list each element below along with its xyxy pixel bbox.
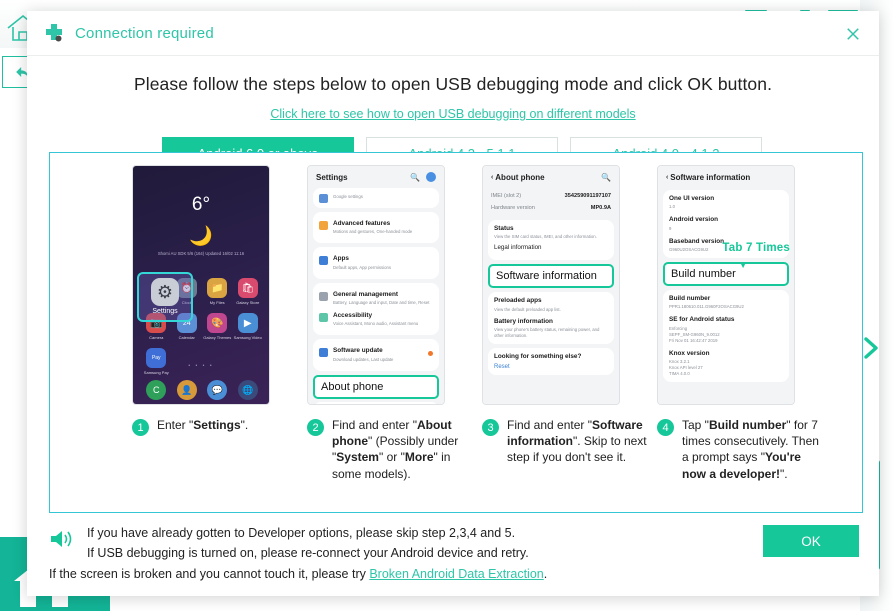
- home-temperature: 6°: [133, 194, 269, 216]
- settings-item-apps[interactable]: Apps Default apps, App permissions: [313, 247, 439, 278]
- tap-seven-times-hint: Tab 7 Times: [722, 242, 790, 254]
- search-icon[interactable]: 🔍: [601, 173, 611, 182]
- usb-plug-icon: [43, 22, 65, 44]
- speaker-icon: [49, 527, 75, 551]
- moon-icon: 🌙: [189, 224, 213, 248]
- settings-item-general-management[interactable]: General management Battery, Language and…: [313, 283, 439, 336]
- app-my-files[interactable]: 📁My Files: [202, 278, 233, 305]
- phone-screenshot-about: ‹ About phone 🔍 IMEI (slot 2)35425909119…: [482, 165, 620, 405]
- chevron-right-icon[interactable]: [856, 333, 886, 363]
- step-4-caption: 4 Tap "Build number" for 7 times consecu…: [657, 417, 825, 482]
- settings-partial-row[interactable]: Google settings: [313, 188, 439, 208]
- step-number-1: 1: [132, 419, 149, 436]
- about-item-legal[interactable]: Legal information: [494, 240, 608, 255]
- footer-line-3-suffix: .: [544, 567, 547, 581]
- step-3-text: Find and enter "Software information". S…: [507, 417, 650, 466]
- step-1: 6° 🌙 Shomi AU SDK 5/6 (164) Updated 16/0…: [132, 165, 307, 482]
- settings-item-advanced-features[interactable]: Advanced features Motions and gestures, …: [313, 212, 439, 243]
- software-header: ‹ Software information: [658, 166, 794, 188]
- step-3: ‹ About phone 🔍 IMEI (slot 2)35425909119…: [482, 165, 657, 482]
- footer-line-1: If you have already gotten to Developer …: [87, 523, 529, 543]
- build-number-highlight[interactable]: Build number: [663, 262, 789, 286]
- step-4-text: Tap "Build number" for 7 times consecuti…: [682, 417, 825, 482]
- software-header-title: Software information: [670, 173, 750, 182]
- home-dock: C 👤 💬 🌐: [141, 380, 263, 400]
- about-header: ‹ About phone 🔍: [483, 166, 619, 188]
- about-item-preloaded-apps[interactable]: Preloaded apps View the default preloade…: [488, 292, 614, 344]
- app-galaxy-themes[interactable]: 🎨Galaxy Themes: [202, 313, 233, 340]
- settings-item-about-phone[interactable]: About phone Status, Legal information, P…: [313, 402, 439, 405]
- update-badge-icon: [428, 351, 433, 356]
- dialog-titlebar: Connection required: [27, 11, 879, 56]
- account-avatar-icon[interactable]: [426, 172, 436, 182]
- phone-screenshot-settings: Settings 🔍 Google settings Advanced fe: [307, 165, 445, 405]
- close-icon[interactable]: [841, 22, 865, 46]
- step-2-caption: 2 Find and enter "About phone" (Possibly…: [307, 417, 475, 482]
- dock-messages-icon[interactable]: 💬: [207, 380, 227, 400]
- step-3-caption: 3 Find and enter "Software information".…: [482, 417, 650, 466]
- step-number-2: 2: [307, 419, 324, 436]
- step-2: Settings 🔍 Google settings Advanced fe: [307, 165, 482, 482]
- settings-app-label: Settings: [137, 308, 193, 315]
- phone-screenshot-home: 6° 🌙 Shomi AU SDK 5/6 (164) Updated 16/0…: [132, 165, 270, 405]
- help-link-row: Click here to see how to open USB debugg…: [27, 105, 879, 123]
- step-1-caption: 1 Enter "Settings".: [132, 417, 300, 436]
- connection-required-dialog: Connection required Please follow the st…: [27, 11, 879, 596]
- screen-root: Connection required Please follow the st…: [0, 0, 894, 611]
- gear-icon[interactable]: ⚙: [151, 278, 179, 306]
- about-kv-list: IMEI (slot 2)354259091197107 Hardware ve…: [483, 188, 619, 216]
- settings-header-title: Settings: [316, 173, 348, 182]
- app-samsung-pay[interactable]: PaySamsung Pay: [141, 348, 172, 375]
- settings-item-software-update[interactable]: Software update Download updates, Last u…: [313, 339, 439, 370]
- reset-link[interactable]: Reset: [494, 361, 608, 370]
- step-1-text: Enter "Settings".: [157, 417, 248, 436]
- footer-line-3-prefix: If the screen is broken and you cannot t…: [49, 567, 369, 581]
- software-information-highlight[interactable]: Software information: [488, 264, 614, 288]
- usb-debugging-help-link[interactable]: Click here to see how to open USB debugg…: [270, 107, 635, 121]
- dock-phone-icon[interactable]: C: [146, 380, 166, 400]
- step-number-4: 4: [657, 419, 674, 436]
- about-phone-highlight[interactable]: About phone: [313, 375, 439, 399]
- phone-screenshot-software: ‹ Software information One UI version 1.…: [657, 165, 795, 405]
- steps-panel: 6° 🌙 Shomi AU SDK 5/6 (164) Updated 16/0…: [49, 152, 863, 513]
- steps-list: 6° 🌙 Shomi AU SDK 5/6 (164) Updated 16/0…: [132, 165, 832, 482]
- search-icon[interactable]: 🔍: [410, 173, 420, 182]
- step-4: ‹ Software information One UI version 1.…: [657, 165, 832, 482]
- about-looking-card[interactable]: Looking for something else? Reset: [488, 348, 614, 375]
- dialog-footer: If you have already gotten to Developer …: [49, 523, 859, 581]
- software-build-list[interactable]: Build number PPR1.180610.011.G960F2OSACG…: [663, 290, 789, 382]
- footer-line-2: If USB debugging is turned on, please re…: [87, 543, 529, 563]
- about-item-status[interactable]: Status View the SIM card status, IMEI, a…: [488, 220, 614, 260]
- settings-header: Settings 🔍: [308, 166, 444, 188]
- footer-line-3: If the screen is broken and you cannot t…: [49, 567, 859, 581]
- app-galaxy-store[interactable]: 🛍Galaxy Store: [233, 278, 264, 305]
- step-number-3: 3: [482, 419, 499, 436]
- page-title: Please follow the steps below to open US…: [27, 74, 879, 95]
- dock-internet-icon[interactable]: 🌐: [238, 380, 258, 400]
- broken-android-data-extraction-link[interactable]: Broken Android Data Extraction: [369, 567, 543, 581]
- dialog-title: Connection required: [75, 25, 214, 42]
- home-page-dots: • • • •: [133, 363, 269, 369]
- chevron-down-icon: ▼: [738, 260, 748, 271]
- about-header-title: About phone: [495, 173, 544, 182]
- dock-contacts-icon[interactable]: 👤: [177, 380, 197, 400]
- step-2-text: Find and enter "About phone" (Possibly u…: [332, 417, 475, 482]
- ok-button[interactable]: OK: [763, 525, 859, 557]
- app-samsung-video[interactable]: ▶Samsung Video: [233, 313, 264, 340]
- home-weather-sub: Shomi AU SDK 5/6 (164) Updated 16/02 11:…: [133, 250, 269, 257]
